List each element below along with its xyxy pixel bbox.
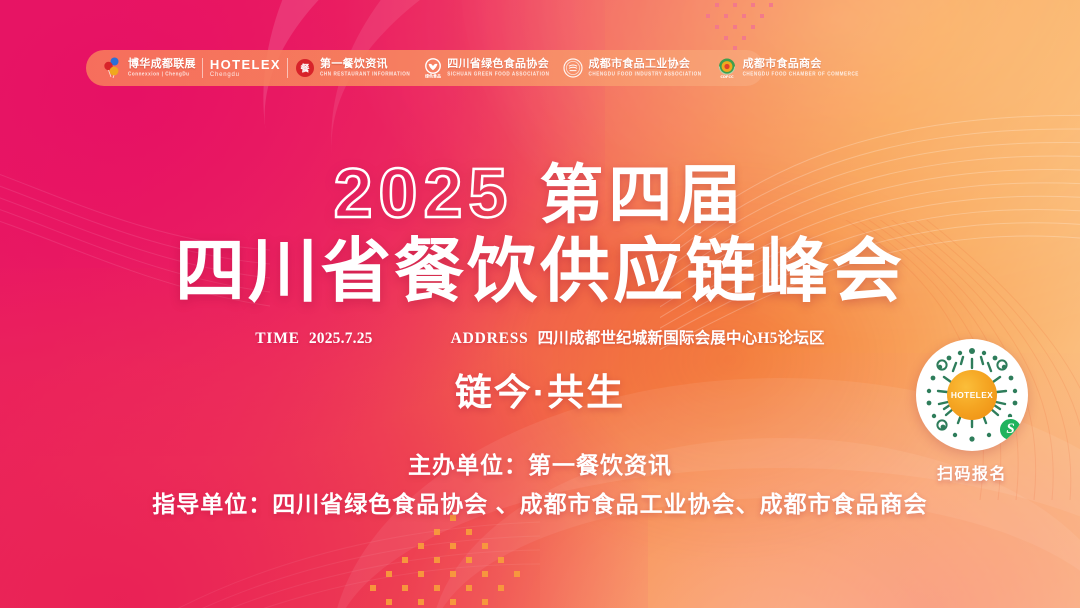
logo-diyi-canyin-zixun[interactable]: 餐 第一餐饮资讯 CHN RESTAURANT INFORMATION xyxy=(288,50,417,86)
qr-center-label: HOTELEX xyxy=(951,390,993,400)
logo-label-cn: 四川省绿色食品协会 xyxy=(447,59,549,70)
cdfcc-emblem-icon: CDFCC xyxy=(716,57,738,79)
qr-caption: 扫码报名 xyxy=(911,460,1033,484)
event-edition: 第四届 xyxy=(539,163,746,227)
logo-bohua-chengdu-lianzhan[interactable]: 博华成都联展 Connexxion | ChengDu xyxy=(96,50,203,86)
logo-label-cn: 成都市食品商会 xyxy=(743,59,859,70)
logo-label-en: Connexxion | ChengDu xyxy=(128,72,196,77)
logo-sichuan-green-food-association[interactable]: 绿色食品 四川省绿色食品协会 SICHUAN GREEN FOOD ASSOCI… xyxy=(417,50,556,86)
svg-text:CDFCC: CDFCC xyxy=(720,75,734,79)
green-shield-icon: 绿色食品 xyxy=(424,58,442,78)
logo-label-cn: 第一餐饮资讯 xyxy=(320,59,410,70)
logo-hotelex-chengdu[interactable]: HOTELEX Chengdu xyxy=(203,50,288,86)
title-line-one: 2025 第四届 xyxy=(0,158,1080,228)
decorative-dot-grid-top xyxy=(690,0,840,52)
event-year: 2025 xyxy=(334,158,514,228)
logo-label-cn: HOTELEX xyxy=(210,58,281,71)
partner-logo-bar: 博华成都联展 Connexxion | ChengDu HOTELEX Chen… xyxy=(86,50,764,86)
seal-icon: 餐 xyxy=(295,58,315,78)
logo-label-en: Chengdu xyxy=(210,72,281,78)
logo-label-en: SICHUAN GREEN FOOD ASSOCIATION xyxy=(447,72,549,77)
decorative-dot-grid-bottom xyxy=(358,513,548,608)
event-address: ADDRESS 四川成都世纪城新国际会展中心H5论坛区 xyxy=(451,326,825,348)
time-value: 2025.7.25 xyxy=(309,330,373,348)
qr-center-logo: HOTELEX xyxy=(947,370,997,420)
svg-text:餐: 餐 xyxy=(300,63,311,75)
logo-label-en: CHN RESTAURANT INFORMATION xyxy=(320,72,410,77)
svg-text:绿色食品: 绿色食品 xyxy=(425,73,441,79)
time-label: TIME xyxy=(255,330,300,348)
logo-label-en: CHENGDU FOOD CHAMBER OF COMMERCE xyxy=(743,72,859,77)
round-seal-icon xyxy=(563,58,583,78)
logo-label-cn: 成都市食品工业协会 xyxy=(588,59,701,70)
logo-label-en: CHENGDU FOOD INDUSTRY ASSOCIATION xyxy=(588,72,701,77)
guiding-organizers: 指导单位：四川省绿色食品协会 、成都市食品工业协会、成都市食品商会 xyxy=(0,487,1080,522)
event-poster: 博华成都联展 Connexxion | ChengDu HOTELEX Chen… xyxy=(0,0,1080,608)
event-main-title: 四川省餐饮供应链峰会 xyxy=(0,234,1080,310)
event-time: TIME 2025.7.25 xyxy=(255,330,372,348)
balloons-icon xyxy=(103,57,123,79)
qr-code[interactable]: HOTELEX S xyxy=(916,339,1028,451)
address-label: ADDRESS xyxy=(451,330,529,348)
address-value: 四川成都世纪城新国际会展中心H5论坛区 xyxy=(538,326,825,348)
wechat-miniprogram-badge: S xyxy=(998,417,1023,442)
logo-chengdu-food-industry-association[interactable]: 成都市食品工业协会 CHENGDU FOOD INDUSTRY ASSOCIAT… xyxy=(556,50,708,86)
logo-label-cn: 博华成都联展 xyxy=(128,59,196,70)
registration-qr-block[interactable]: HOTELEX S 扫码报名 xyxy=(911,339,1033,484)
logo-chengdu-food-chamber-of-commerce[interactable]: CDFCC 成都市食品商会 CHENGDU FOOD CHAMBER OF CO… xyxy=(709,50,866,86)
